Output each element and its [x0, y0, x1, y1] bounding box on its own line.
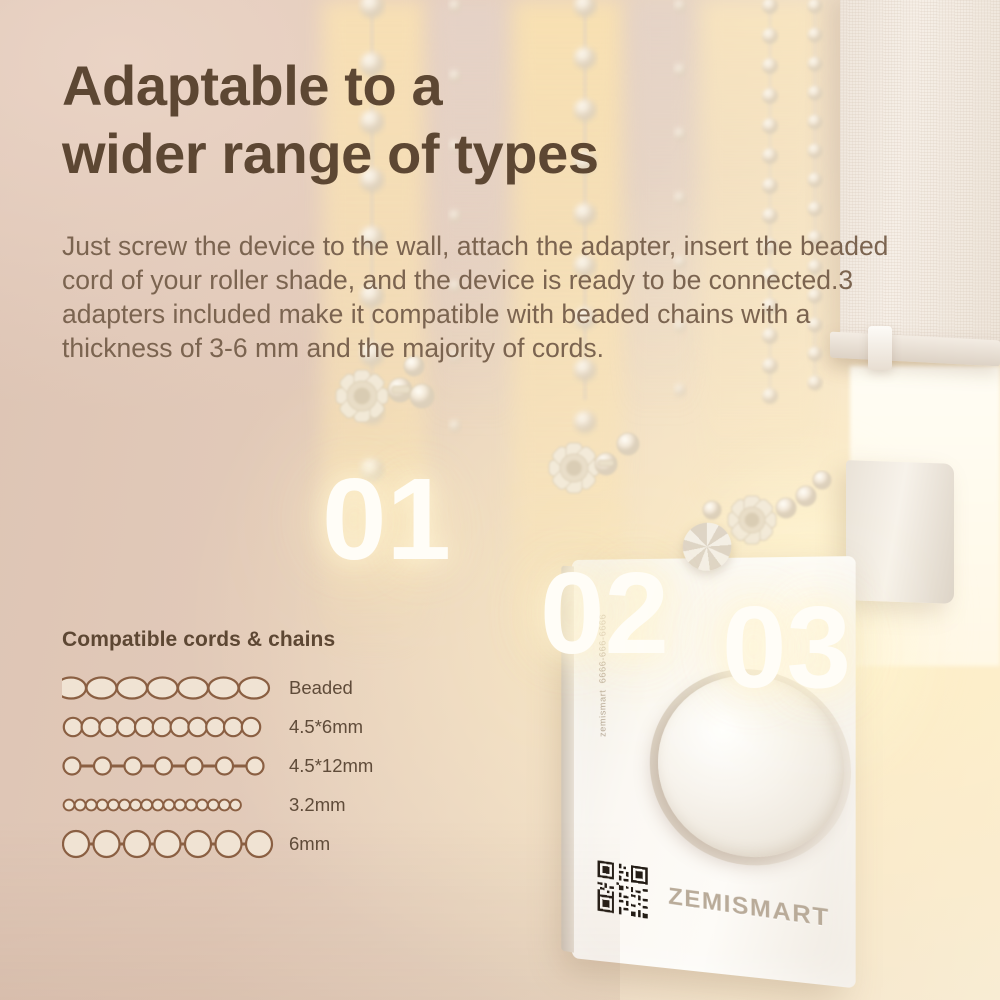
product-marketing-image: zemismart 6666-666-6666 ZEMISMART 01 — [0, 0, 1000, 1000]
brand-logo-text: ZEMISMART — [668, 882, 829, 933]
spec-row-label: 4.5*12mm — [289, 755, 373, 777]
spec-row-list: Beaded4.5*6mm4.5*12mm3.2mm6mm — [62, 668, 422, 863]
oval-link-chain-icon — [62, 671, 277, 705]
spec-row-label: 4.5*6mm — [289, 716, 363, 738]
chain-diagram — [62, 712, 277, 742]
page-title: Adaptable to a wider range of types — [62, 52, 762, 189]
chain-diagram — [62, 673, 277, 703]
adapter-01 — [318, 352, 448, 448]
step-numeral-03: 03 — [722, 580, 851, 714]
spec-row: 4.5*12mm — [62, 746, 422, 785]
small-round-bead-chain-icon — [62, 788, 277, 822]
step-numeral-01: 01 — [322, 452, 451, 586]
headline-line-2: wider range of types — [62, 120, 762, 188]
chain-diagram — [62, 751, 277, 781]
spec-row: 3.2mm — [62, 785, 422, 824]
spec-row: 6mm — [62, 824, 422, 863]
spec-row: 4.5*6mm — [62, 707, 422, 746]
spec-row-label: Beaded — [289, 677, 353, 699]
spec-section-title: Compatible cords & chains — [62, 628, 422, 652]
headline-line-1: Adaptable to a — [62, 54, 442, 117]
step-numeral-02: 02 — [540, 546, 669, 680]
adapter-02 — [534, 428, 654, 520]
chain-diagram — [62, 827, 277, 861]
round-bead-long-link-chain-icon — [62, 749, 277, 783]
serial-logo-text: zemismart — [598, 689, 608, 737]
spec-row-label: 3.2mm — [289, 794, 346, 816]
body-paragraph: Just screw the device to the wall, attac… — [62, 230, 922, 366]
motor-cap-icon — [683, 522, 732, 571]
spec-row: Beaded — [62, 668, 422, 707]
touching-round-bead-chain-icon — [62, 710, 277, 744]
chain-diagram — [62, 790, 277, 820]
spec-row-label: 6mm — [289, 833, 330, 855]
large-round-bead-chain-icon — [62, 827, 277, 861]
compatible-cords-section: Compatible cords & chains Beaded4.5*6mm4… — [62, 628, 422, 863]
